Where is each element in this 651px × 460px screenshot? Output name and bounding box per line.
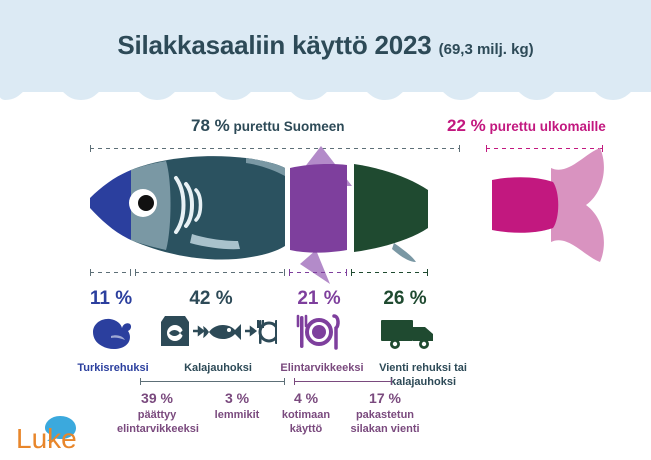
segment-pct-fishmeal: 42 % (182, 288, 240, 310)
fish-tail-export (492, 148, 604, 262)
luke-logo-text: Luke (16, 423, 77, 454)
segment-icon-fur (85, 312, 137, 357)
segment-icon-food (292, 312, 346, 357)
fish-segment-fur-feed (90, 170, 131, 240)
segment-icon-export (378, 312, 444, 357)
infographic-root: Silakkasaaliin käyttö 2023 (69,3 milj. k… (0, 0, 651, 460)
sub-pct-frozen-export: 17 % (343, 390, 427, 406)
fish-diagram (0, 0, 651, 300)
fish-segment-fishmeal (129, 156, 285, 259)
sub-pct-domestic-use: 4 % (270, 390, 342, 406)
bracket-food-breakdown (294, 381, 392, 382)
sub-label-pets: lemmikit (205, 408, 269, 422)
feedbag-fish-plate-icon (159, 312, 277, 352)
truck-icon (379, 312, 443, 352)
segment-label-fishmeal: Kalajauhoksi (168, 362, 268, 374)
measure-line-segment-fishmeal (135, 272, 285, 273)
fish-segment-food-use (290, 146, 352, 284)
segment-label-fur: Turkisrehuksi (68, 362, 158, 374)
sub-pct-food-end: 39 % (117, 390, 197, 406)
segment-pct-food: 21 % (292, 288, 346, 310)
luke-logo[interactable]: Luke (14, 414, 134, 454)
sub-label-frozen-export: pakastetun silakan vienti (343, 408, 427, 437)
sub-label-domestic-use: kotimaan käyttö (270, 408, 342, 437)
segment-icon-fishmeal (158, 312, 278, 357)
segment-pct-export: 26 % (378, 288, 432, 310)
plate-cutlery-icon (292, 312, 346, 352)
fish-segment-export (354, 164, 428, 262)
measure-line-segment-food (289, 272, 347, 273)
measure-line-segment-export (351, 272, 428, 273)
measure-line-segment-fur (90, 272, 131, 273)
mink-icon (87, 312, 135, 352)
segment-pct-fur: 11 % (85, 288, 137, 310)
segment-label-food: Elintarvikkeeksi (270, 362, 374, 374)
bracket-fishmeal-breakdown (140, 381, 285, 382)
sub-pct-pets: 3 % (205, 390, 269, 406)
segment-label-export: Vienti rehuksi tai kalajauhoksi (378, 362, 468, 390)
